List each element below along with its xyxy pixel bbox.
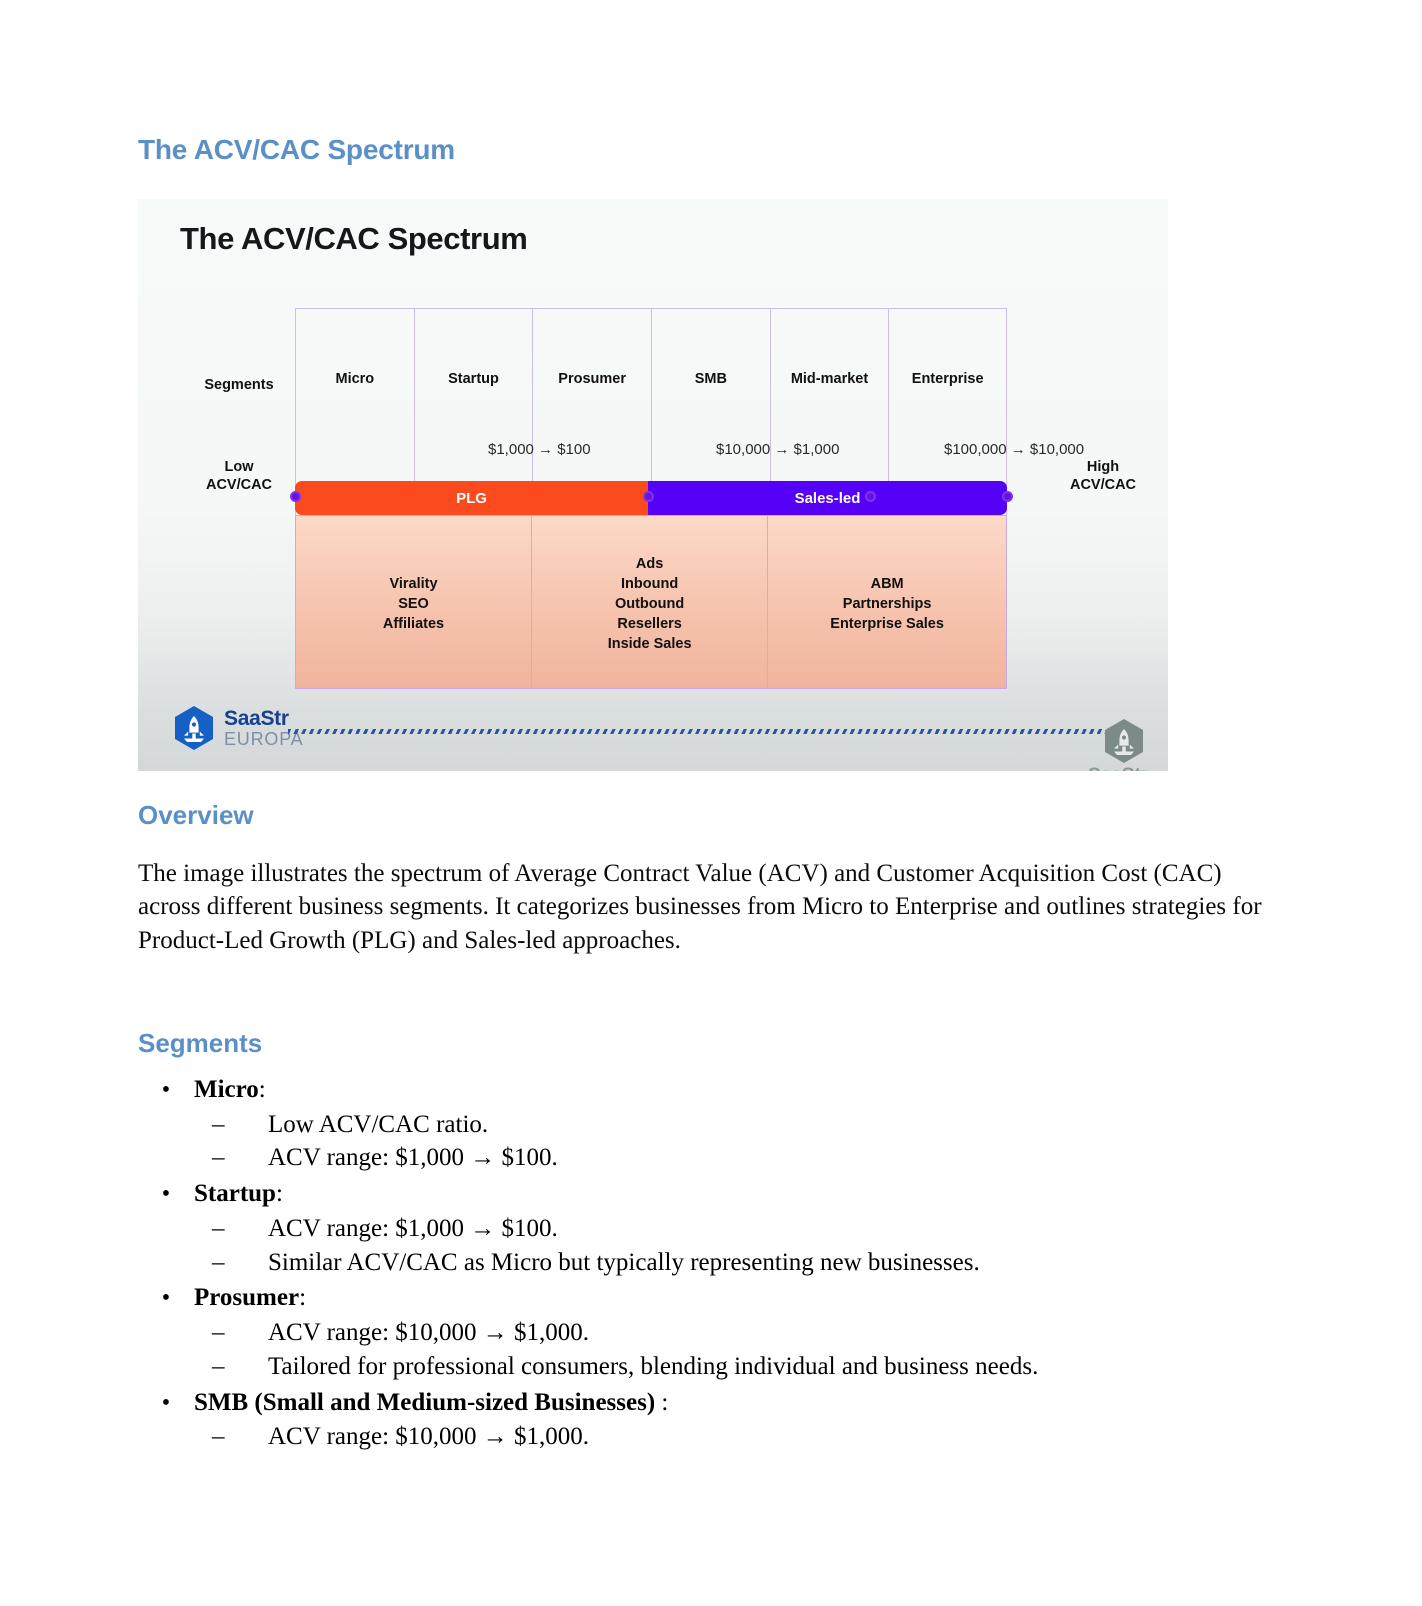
- tactic-item: Inside Sales: [608, 634, 692, 654]
- spectrum-node-dot: [290, 491, 301, 502]
- sub-bullet-glyph: –: [212, 1316, 268, 1350]
- tactics-row: Virality SEO Affiliates Ads Inbound Outb…: [295, 515, 1007, 689]
- segment-label: Startup: [415, 371, 533, 387]
- sub-item-text: ACV range: $10,000 → $1,000.: [268, 1420, 589, 1454]
- sub-bullet-glyph: –: [212, 1108, 268, 1142]
- rocket-hexagon-icon: [173, 705, 215, 751]
- overview-section: Overview The image illustrates the spect…: [138, 800, 1288, 957]
- sub-list: – ACV range: $10,000 → $1,000.: [138, 1420, 1288, 1454]
- sub-list: – ACV range: $1,000 → $100. – Similar AC…: [138, 1212, 1288, 1280]
- list-item: – ACV range: $1,000 → $100.: [138, 1212, 1288, 1246]
- segment-item-label: Startup: [194, 1180, 276, 1207]
- spectrum-node-dot: [1002, 491, 1013, 502]
- bullet-glyph: •: [138, 1179, 194, 1211]
- segments-list: • Micro: – Low ACV/CAC ratio. – ACV rang…: [138, 1073, 1288, 1454]
- segment-item-label: SMB (Small and Medium-sized Businesses): [194, 1389, 655, 1416]
- low-label-line2: ACV/CAC: [206, 477, 272, 493]
- spectrum-node-dot: [865, 491, 876, 502]
- figure-title: The ACV/CAC Spectrum: [180, 221, 527, 257]
- sub-list: – ACV range: $10,000 → $1,000. – Tailore…: [138, 1316, 1288, 1384]
- list-item: – ACV range: $1,000 → $100.: [138, 1141, 1288, 1175]
- sub-item-text: ACV range: $1,000 → $100.: [268, 1141, 558, 1175]
- list-item: – Low ACV/CAC ratio.: [138, 1108, 1288, 1142]
- acv-range-annotation: $100,000 → $10,000: [944, 441, 1084, 458]
- tactics-box-plg: Virality SEO Affiliates: [295, 515, 532, 689]
- segment-item-label: Micro: [194, 1076, 259, 1103]
- document-page: The ACV/CAC Spectrum The ACV/CAC Spectru…: [0, 0, 1422, 1606]
- sub-item-text: Tailored for professional consumers, ble…: [268, 1350, 1038, 1384]
- sub-bullet-glyph: –: [212, 1212, 268, 1246]
- decorative-dashed-rule: [288, 729, 1118, 734]
- acv-range-annotation: $10,000 → $1,000: [716, 441, 839, 458]
- list-item: • SMB (Small and Medium-sized Businesses…: [138, 1386, 1288, 1454]
- tactic-item: SEO: [383, 594, 444, 614]
- row-label-segments: Segments: [174, 376, 304, 394]
- saastr-corner-wordmark: SaaStr: [1088, 765, 1148, 771]
- sub-item-text: ACV range: $10,000 → $1,000.: [268, 1316, 589, 1350]
- saastr-europa-logo: SaaStr EUROPA: [173, 705, 303, 751]
- low-label-line1: Low: [225, 459, 254, 475]
- saastr-corner-hexagon-icon: [1103, 718, 1145, 764]
- bullet-glyph: •: [138, 1075, 194, 1107]
- row-label-low-acv-cac: Low ACV/CAC: [174, 458, 304, 494]
- segments-section: Segments • Micro: – Low ACV/CAC ratio. –…: [138, 1028, 1288, 1456]
- segment-label: Micro: [296, 371, 414, 387]
- list-item: • Startup: – ACV range: $1,000 → $100. –…: [138, 1177, 1288, 1279]
- sub-list: – Low ACV/CAC ratio. – ACV range: $1,000…: [138, 1108, 1288, 1176]
- tactic-item: Resellers: [608, 614, 692, 634]
- page-title: The ACV/CAC Spectrum: [138, 134, 455, 166]
- bullet-glyph: •: [138, 1283, 194, 1315]
- tactic-item: ABM: [830, 574, 944, 594]
- tactic-item: Virality: [383, 574, 444, 594]
- list-item: – ACV range: $10,000 → $1,000.: [138, 1420, 1288, 1454]
- list-item: – ACV range: $10,000 → $1,000.: [138, 1316, 1288, 1350]
- tactic-item: Affiliates: [383, 614, 444, 634]
- sub-bullet-glyph: –: [212, 1141, 268, 1175]
- segments-heading: Segments: [138, 1028, 1288, 1059]
- segment-item-suffix: :: [259, 1076, 266, 1103]
- sub-item-text: Low ACV/CAC ratio.: [268, 1108, 488, 1142]
- segment-item-suffix: :: [299, 1284, 306, 1311]
- strategy-bar-plg: PLG: [295, 481, 648, 515]
- list-item: – Similar ACV/CAC as Micro but typically…: [138, 1246, 1288, 1280]
- segment-label: Prosumer: [533, 371, 651, 387]
- strategy-bar-sales-led: Sales-led: [648, 481, 1007, 515]
- tactic-item: Outbound: [608, 594, 692, 614]
- sub-item-text: ACV range: $1,000 → $100.: [268, 1212, 558, 1246]
- tactic-item: Partnerships: [830, 594, 944, 614]
- segment-label: SMB: [652, 371, 770, 387]
- high-label-line1: High: [1087, 459, 1119, 475]
- segment-label: Mid-market: [771, 371, 889, 387]
- overview-heading: Overview: [138, 800, 1288, 831]
- sub-bullet-glyph: –: [212, 1246, 268, 1280]
- list-item: • Prosumer: – ACV range: $10,000 → $1,00…: [138, 1281, 1288, 1383]
- tactic-item: Enterprise Sales: [830, 614, 944, 634]
- acv-range-annotation: $1,000 → $100: [488, 441, 591, 458]
- list-item: • Micro: – Low ACV/CAC ratio. – ACV rang…: [138, 1073, 1288, 1175]
- segment-item-suffix: :: [655, 1389, 668, 1416]
- tactics-box-midspectrum: Ads Inbound Outbound Resellers Inside Sa…: [531, 515, 769, 689]
- tactic-item: Inbound: [608, 574, 692, 594]
- tactics-box-sales-led: ABM Partnerships Enterprise Sales: [767, 515, 1007, 689]
- segment-item-suffix: :: [276, 1180, 283, 1207]
- tactic-item: Ads: [608, 554, 692, 574]
- row-label-high-acv-cac: High ACV/CAC: [1038, 458, 1168, 494]
- list-item: – Tailored for professional consumers, b…: [138, 1350, 1288, 1384]
- segment-item-label: Prosumer: [194, 1284, 299, 1311]
- saastr-logo-main: SaaStr: [224, 708, 303, 729]
- acv-cac-spectrum-figure: The ACV/CAC Spectrum Segments Low ACV/CA…: [138, 199, 1168, 771]
- saastr-wordmark: SaaStr EUROPA: [224, 708, 303, 748]
- sub-item-text: Similar ACV/CAC as Micro but typically r…: [268, 1246, 980, 1280]
- segment-label: Enterprise: [889, 371, 1006, 387]
- high-label-line2: ACV/CAC: [1070, 477, 1136, 493]
- sub-bullet-glyph: –: [212, 1350, 268, 1384]
- sub-bullet-glyph: –: [212, 1420, 268, 1454]
- bullet-glyph: •: [138, 1388, 194, 1420]
- spectrum-node-dot: [643, 491, 654, 502]
- overview-paragraph: The image illustrates the spectrum of Av…: [138, 857, 1284, 957]
